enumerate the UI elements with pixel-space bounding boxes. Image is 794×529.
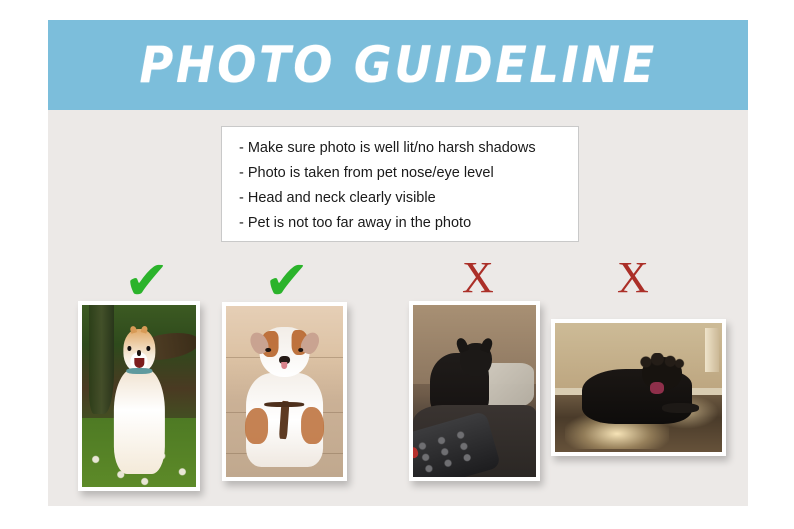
check-icon-example-1: ✔ (124, 254, 169, 308)
dog-collar (126, 368, 152, 374)
guideline-item-2: - Photo is taken from pet nose/eye level (239, 161, 578, 186)
dog-harness-band (265, 402, 305, 407)
remote-buttons (413, 422, 490, 477)
photo-guideline-page: PHOTO GUIDELINE - Make sure photo is wel… (0, 0, 794, 529)
dog-eye-right (147, 346, 151, 351)
photo-3-image (413, 305, 536, 477)
cross-icon-example-4: X (617, 256, 649, 300)
example-photo-bad-1 (409, 301, 540, 481)
dog-head (260, 327, 309, 377)
example-photo-good-2 (222, 302, 347, 481)
guideline-item-1: - Make sure photo is well lit/no harsh s… (239, 136, 578, 161)
example-photo-bad-2 (551, 319, 726, 456)
page-title: PHOTO GUIDELINE (139, 40, 656, 90)
guidelines-box: - Make sure photo is well lit/no harsh s… (221, 126, 579, 242)
dog-body (246, 373, 322, 467)
guideline-item-4: - Pet is not too far away in the photo (239, 211, 578, 236)
photo-2-image (226, 306, 343, 477)
shiba-dog (109, 329, 168, 475)
poodle-collar (650, 382, 663, 394)
bulldog (245, 327, 325, 467)
cross-icon-example-3: X (462, 256, 494, 300)
dog-shoulder-right (301, 407, 324, 445)
dog-body (114, 368, 165, 474)
doorway (705, 328, 718, 372)
dog-tongue (281, 362, 287, 369)
dog-nose (137, 350, 142, 356)
guideline-item-3: - Head and neck clearly visible (239, 186, 578, 211)
photo-4-image (555, 323, 722, 452)
header-banner: PHOTO GUIDELINE (48, 20, 748, 110)
example-photo-good-1 (78, 301, 200, 491)
photo-1-image (82, 305, 196, 487)
poodle-curls (639, 353, 686, 368)
dog-shoulder-left (245, 408, 268, 444)
poodle-paws (662, 403, 699, 413)
dog-ear-left (129, 325, 137, 334)
check-icon-example-2: ✔ (264, 254, 309, 308)
dog-eye-left (128, 346, 132, 351)
dog-ear-right (141, 325, 149, 334)
